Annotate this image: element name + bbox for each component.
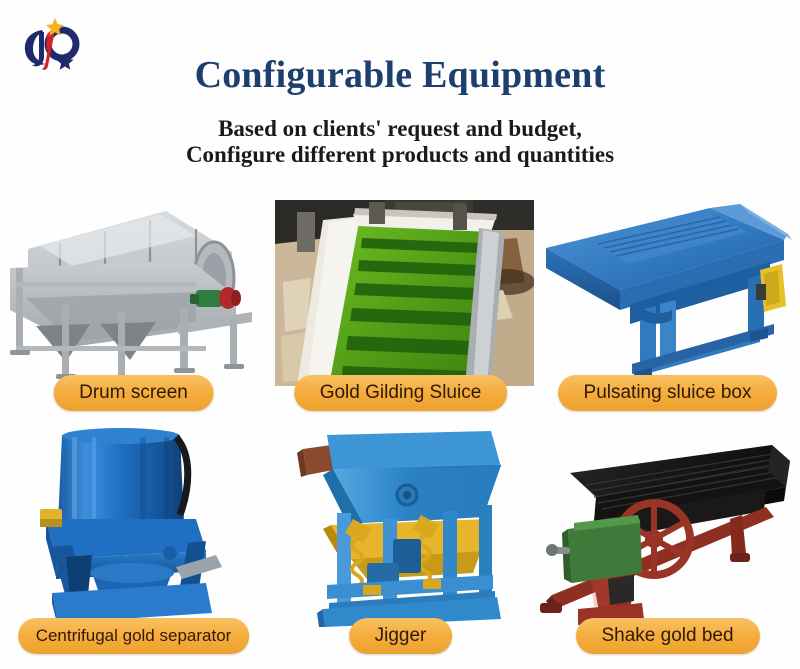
subtitle-line-2: Configure different products and quantit… <box>0 142 800 168</box>
page-subtitle: Based on clients' request and budget, Co… <box>0 116 800 168</box>
product-card-shake-gold-bed[interactable]: Shake gold bed <box>534 427 800 668</box>
pulsating-sluice-box-illustration <box>534 186 800 386</box>
product-card-centrifugal-gold-separator[interactable]: Centrifugal gold separator <box>0 427 267 668</box>
subtitle-line-1: Based on clients' request and budget, <box>0 116 800 142</box>
product-label-badge[interactable]: Jigger <box>349 618 453 654</box>
product-card-gold-gilding-sluice[interactable]: Gold Gilding Sluice <box>267 186 534 427</box>
product-card-jigger[interactable]: Jigger <box>267 427 534 668</box>
page-title: Configurable Equipment <box>0 56 800 94</box>
product-grid: Drum screen <box>0 186 800 669</box>
product-label-badge[interactable]: Shake gold bed <box>575 618 759 654</box>
product-label-badge[interactable]: Centrifugal gold separator <box>18 618 250 654</box>
product-card-drum-screen[interactable]: Drum screen <box>0 186 267 427</box>
centrifugal-gold-separator-illustration <box>0 427 267 627</box>
jigger-illustration <box>267 427 534 627</box>
gold-gilding-sluice-photo <box>267 186 534 386</box>
product-label-badge[interactable]: Gold Gilding Sluice <box>294 375 508 411</box>
drum-screen-illustration <box>0 186 267 386</box>
product-label-badge[interactable]: Drum screen <box>53 375 214 411</box>
shake-gold-bed-illustration <box>534 427 800 627</box>
product-label-badge[interactable]: Pulsating sluice box <box>558 375 778 411</box>
product-card-pulsating-sluice-box[interactable]: Pulsating sluice box <box>534 186 800 427</box>
